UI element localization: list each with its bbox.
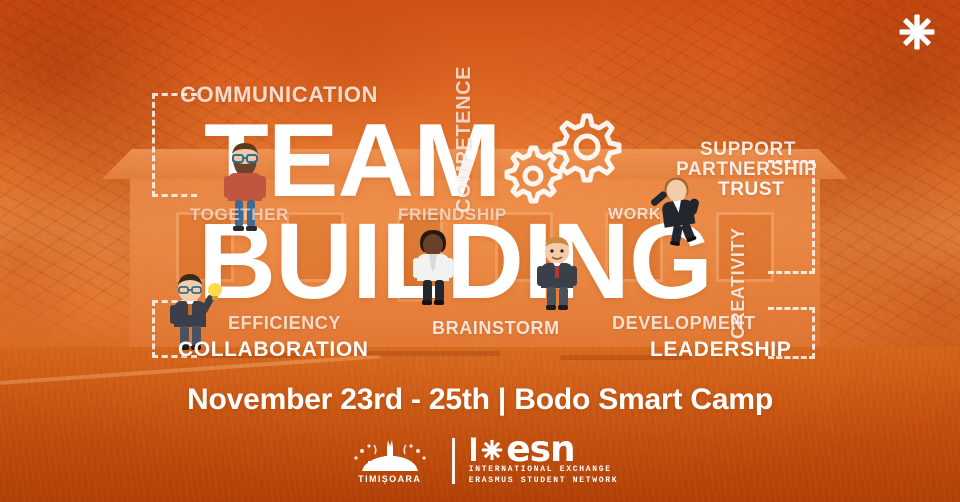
esn-subtitle-line1: INTERNATIONAL EXCHANGE [469, 465, 612, 476]
keyword-efficiency: EFFICIENCY [228, 313, 341, 334]
keyword-partnership: PARTNERSHIP [676, 159, 817, 181]
character-woman-professional [412, 228, 454, 306]
keyword-competence: COMPETENCE [453, 66, 476, 213]
esn-subtitle-line2: ERASMUS STUDENT NETWORK [469, 476, 619, 487]
keyword-trust: TRUST [718, 179, 784, 201]
footer-logo-bar: TIMIȘOARA I esn [0, 430, 960, 492]
keyword-friendship: FRIENDSHIP [398, 205, 507, 225]
dashed-bracket-top-left [152, 93, 197, 197]
page-title-line2: BUILDING [198, 216, 712, 307]
gears-icon [498, 100, 628, 210]
logo-divider [452, 438, 455, 484]
timisoara-skyline-icon [344, 439, 436, 473]
event-date-and-venue: November 23rd - 25th | Bodo Smart Camp [0, 383, 960, 417]
esn-logo: I esn INTERNATIONAL EXCHANGE ERA [469, 435, 619, 487]
keyword-work: WORK [608, 206, 661, 224]
keyword-support: SUPPORT [700, 139, 796, 161]
esn-star-icon [898, 13, 936, 51]
timisoara-label: TIMIȘOARA [358, 474, 421, 484]
esn-star-icon [481, 439, 503, 461]
keyword-leadership: LEADERSHIP [650, 338, 791, 362]
keyword-communication: COMMUNICATION [180, 82, 378, 108]
timisoara-section-logo: TIMIȘOARA [342, 439, 438, 484]
character-man-suit [536, 235, 578, 311]
keyword-brainstorm: BRAINSTORM [432, 318, 560, 339]
esn-initial-letter: I [469, 433, 478, 467]
esn-wordmark: esn [506, 436, 574, 464]
esn-wordmark-row: I esn [469, 435, 575, 465]
keyword-together: TOGETHER [190, 205, 289, 225]
keyword-development: DEVELOPMENT [612, 313, 756, 334]
poster-canvas: TEAM BUILDING [0, 0, 960, 502]
keyword-collaboration: COLLABORATION [178, 338, 369, 362]
